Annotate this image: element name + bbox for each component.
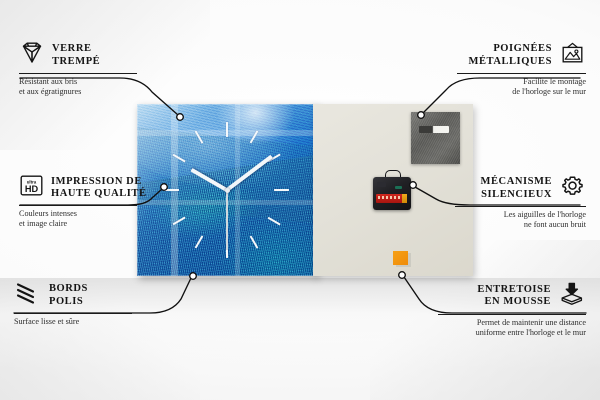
callout-divider xyxy=(455,206,586,207)
polished-edges-icon xyxy=(14,281,42,310)
callout-title: ENTRETOISE EN MOUSSE xyxy=(477,284,551,309)
callout-title: BORDS POLIS xyxy=(49,283,88,308)
mechanism-notch xyxy=(377,182,386,187)
callout-divider xyxy=(14,313,132,314)
metal-hanger-plate xyxy=(411,112,460,164)
clock-mechanism xyxy=(373,170,411,210)
hanger-plate-slot xyxy=(419,126,449,133)
picture-hanger-icon xyxy=(559,41,586,70)
callout-subtitle: Facilite le montage de l'horloge sur le … xyxy=(457,77,586,96)
callout-impression-haute-qualite[interactable]: ultra HD IMPRESSION DE HAUTE QUALITÉ Cou… xyxy=(19,174,147,228)
foam-spacer-icon xyxy=(558,281,586,311)
callout-bords-polis[interactable]: BORDS POLIS Surface lisse et sûre xyxy=(14,281,136,327)
callout-divider xyxy=(19,73,137,74)
foam-spacer xyxy=(393,251,408,265)
callout-title: MÉCANISME SILENCIEUX xyxy=(481,176,552,201)
callout-entretoise-en-mousse[interactable]: ENTRETOISE EN MOUSSE Permet de maintenir… xyxy=(438,281,586,337)
callout-verre-trempe[interactable]: VERRE TREMPÉ Résistant aux bris et aux é… xyxy=(19,41,144,96)
callout-title: IMPRESSION DE HAUTE QUALITÉ xyxy=(51,176,147,201)
callout-divider xyxy=(457,73,586,74)
callout-title: POIGNÉES MÉTALLIQUES xyxy=(469,43,552,68)
callout-divider xyxy=(19,205,137,206)
callout-poignees-metalliques[interactable]: POIGNÉES MÉTALLIQUES Facilite le montage… xyxy=(457,41,586,96)
hanger-plate-grain xyxy=(411,112,460,164)
diamond-icon xyxy=(19,41,45,70)
callout-divider xyxy=(438,314,586,315)
callout-subtitle: Permet de maintenir une distance uniform… xyxy=(438,318,586,337)
ultra-hd-icon: ultra HD xyxy=(19,174,44,202)
svg-text:HD: HD xyxy=(25,184,39,194)
battery-terminal xyxy=(402,194,407,203)
callout-subtitle: Couleurs intenses et image claire xyxy=(19,209,147,228)
clock-face-edge xyxy=(137,104,317,276)
callout-subtitle: Surface lisse et sûre xyxy=(14,317,136,327)
battery-label xyxy=(378,196,400,199)
callout-mecanisme-silencieux[interactable]: MÉCANISME SILENCIEUX Les aiguilles de l'… xyxy=(455,174,586,229)
gear-icon xyxy=(559,174,586,203)
clock-front-face xyxy=(137,104,317,276)
infographic-canvas: VERRE TREMPÉ Résistant aux bris et aux é… xyxy=(0,0,600,400)
callout-title: VERRE TREMPÉ xyxy=(52,43,100,68)
callout-subtitle: Les aiguilles de l'horloge ne font aucun… xyxy=(455,210,586,229)
callout-subtitle: Résistant aux bris et aux égratignures xyxy=(19,77,144,96)
mechanism-label xyxy=(395,186,402,189)
